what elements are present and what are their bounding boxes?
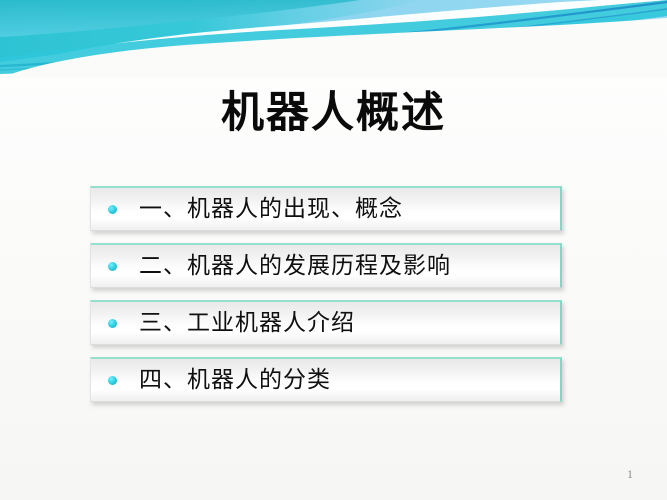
list-item-label: 四、机器人的分类: [139, 365, 560, 395]
list-item-label: 二、机器人的发展历程及影响: [139, 251, 560, 281]
page-number: 1: [618, 466, 642, 482]
list-item-label: 三、工业机器人介绍: [139, 308, 560, 338]
agenda-list: 一、机器人的出现、概念 二、机器人的发展历程及影响 三、工业机器人介绍 四、机器…: [90, 186, 562, 414]
list-item[interactable]: 二、机器人的发展历程及影响: [90, 243, 562, 288]
bullet-dot-icon: [108, 262, 117, 271]
list-item[interactable]: 四、机器人的分类: [90, 357, 562, 402]
list-item-label: 一、机器人的出现、概念: [139, 194, 560, 224]
decorative-wave-banner: [0, 0, 667, 78]
bullet-dot-icon: [108, 205, 117, 214]
bullet-dot-icon: [108, 376, 117, 385]
list-item[interactable]: 三、工业机器人介绍: [90, 300, 562, 345]
presentation-slide: 机器人概述 一、机器人的出现、概念 二、机器人的发展历程及影响 三、工业机器人介…: [0, 0, 667, 500]
slide-title: 机器人概述: [0, 84, 667, 142]
bullet-dot-icon: [108, 319, 117, 328]
wave-banner-graphic: [0, 0, 667, 78]
list-item[interactable]: 一、机器人的出现、概念: [90, 186, 562, 231]
